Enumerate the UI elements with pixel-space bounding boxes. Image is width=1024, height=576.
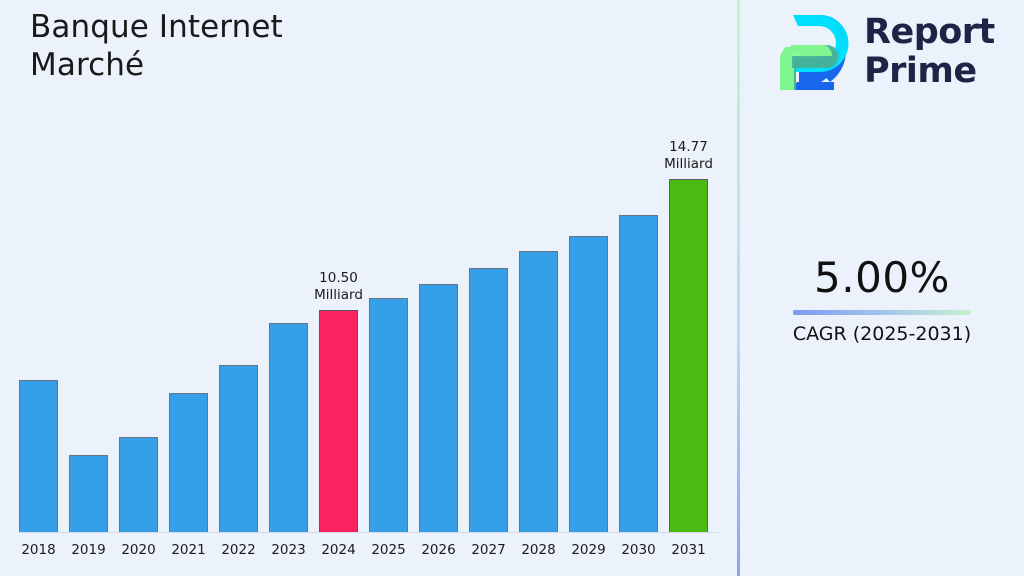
bar-rect-2018[interactable] (19, 380, 58, 533)
logo-text-line-1: Report (864, 13, 1004, 52)
bar-value-unit-2031: Milliard (650, 156, 727, 173)
bar-rect-2025[interactable] (369, 298, 408, 533)
x-axis-tick-labels: 2018201920202021202220232024202520262027… (19, 537, 719, 567)
x-axis-line (19, 532, 719, 533)
bar-2031[interactable]: 14.77Milliard (669, 0, 708, 533)
chart-panel: Banque Internet Marché 10.50Milliard14.7… (0, 0, 738, 576)
bar-value-number-2031: 14.77 (650, 139, 727, 156)
bar-rect-2027[interactable] (469, 268, 508, 533)
bar-2024[interactable]: 10.50Milliard (319, 0, 358, 533)
bar-2021[interactable] (169, 0, 208, 533)
bar-rect-2029[interactable] (569, 236, 608, 533)
bar-2030[interactable] (619, 0, 658, 533)
bar-rect-2019[interactable] (69, 455, 108, 533)
bar-rect-2024[interactable] (319, 310, 358, 533)
cagr-divider-rule (793, 310, 971, 315)
bar-rect-2020[interactable] (119, 437, 158, 533)
bar-rect-2022[interactable] (219, 365, 258, 533)
bar-rect-2026[interactable] (419, 284, 458, 533)
bar-rect-2031[interactable] (669, 179, 708, 533)
bar-2027[interactable] (469, 0, 508, 533)
bar-chart-plot: 10.50Milliard14.77Milliard (0, 0, 738, 533)
bar-value-label-2031: 14.77Milliard (650, 139, 727, 173)
report-prime-logo-mark-icon (772, 12, 854, 92)
bar-rect-2030[interactable] (619, 215, 658, 533)
bar-2028[interactable] (519, 0, 558, 533)
chart-page: Banque Internet Marché 10.50Milliard14.7… (0, 0, 1024, 576)
bar-value-label-2024: 10.50Milliard (300, 270, 377, 304)
cagr-label: CAGR (2025-2031) (750, 322, 1014, 346)
bar-rect-2028[interactable] (519, 251, 558, 533)
bar-2029[interactable] (569, 0, 608, 533)
logo-text-line-2: Prime (864, 52, 1004, 91)
bar-2023[interactable] (269, 0, 308, 533)
bar-2026[interactable] (419, 0, 458, 533)
branding-panel: Report Prime 5.00% CAGR (2025-2031) (740, 0, 1024, 576)
report-prime-logo-text: Report Prime (864, 13, 1004, 91)
cagr-block: 5.00% CAGR (2025-2031) (750, 252, 1014, 346)
bar-series: 10.50Milliard14.77Milliard (19, 0, 719, 533)
bar-2020[interactable] (119, 0, 158, 533)
bar-2025[interactable] (369, 0, 408, 533)
bar-value-number-2024: 10.50 (300, 270, 377, 287)
cagr-value: 5.00% (750, 252, 1014, 304)
report-prime-logo: Report Prime (772, 10, 1002, 94)
x-tick-2031: 2031 (659, 542, 719, 558)
bar-value-unit-2024: Milliard (300, 287, 377, 304)
bar-rect-2021[interactable] (169, 393, 208, 533)
bar-2018[interactable] (19, 0, 58, 533)
bar-rect-2023[interactable] (269, 323, 308, 533)
bar-2022[interactable] (219, 0, 258, 533)
bar-2019[interactable] (69, 0, 108, 533)
